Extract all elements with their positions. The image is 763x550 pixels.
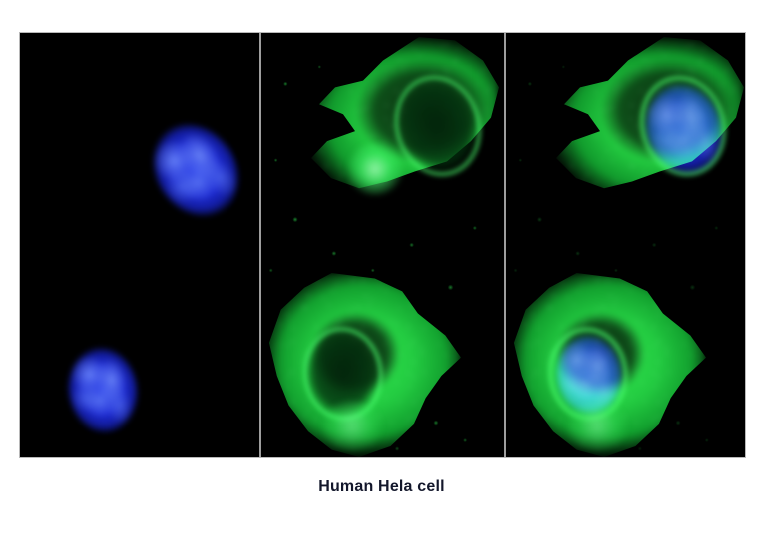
immunofluorescence-figure	[20, 33, 745, 457]
puncta-cluster-lower	[321, 401, 383, 451]
panel-green[interactable]	[261, 33, 504, 457]
nucleus-lower-left	[62, 343, 143, 438]
chromatin-texture	[135, 107, 256, 233]
panel-merge[interactable]	[506, 33, 745, 457]
figure-caption: Human Hela cell	[0, 478, 763, 496]
merge-channel-layer	[506, 33, 745, 457]
panel-dapi[interactable]	[20, 33, 259, 457]
panel-strip	[20, 33, 745, 457]
chromatin-texture	[62, 343, 143, 438]
fitc-channel-layer	[261, 33, 504, 457]
nucleus-upper-right	[135, 107, 256, 233]
puncta-cluster-upper	[347, 143, 403, 195]
dapi-channel-layer	[20, 33, 259, 457]
